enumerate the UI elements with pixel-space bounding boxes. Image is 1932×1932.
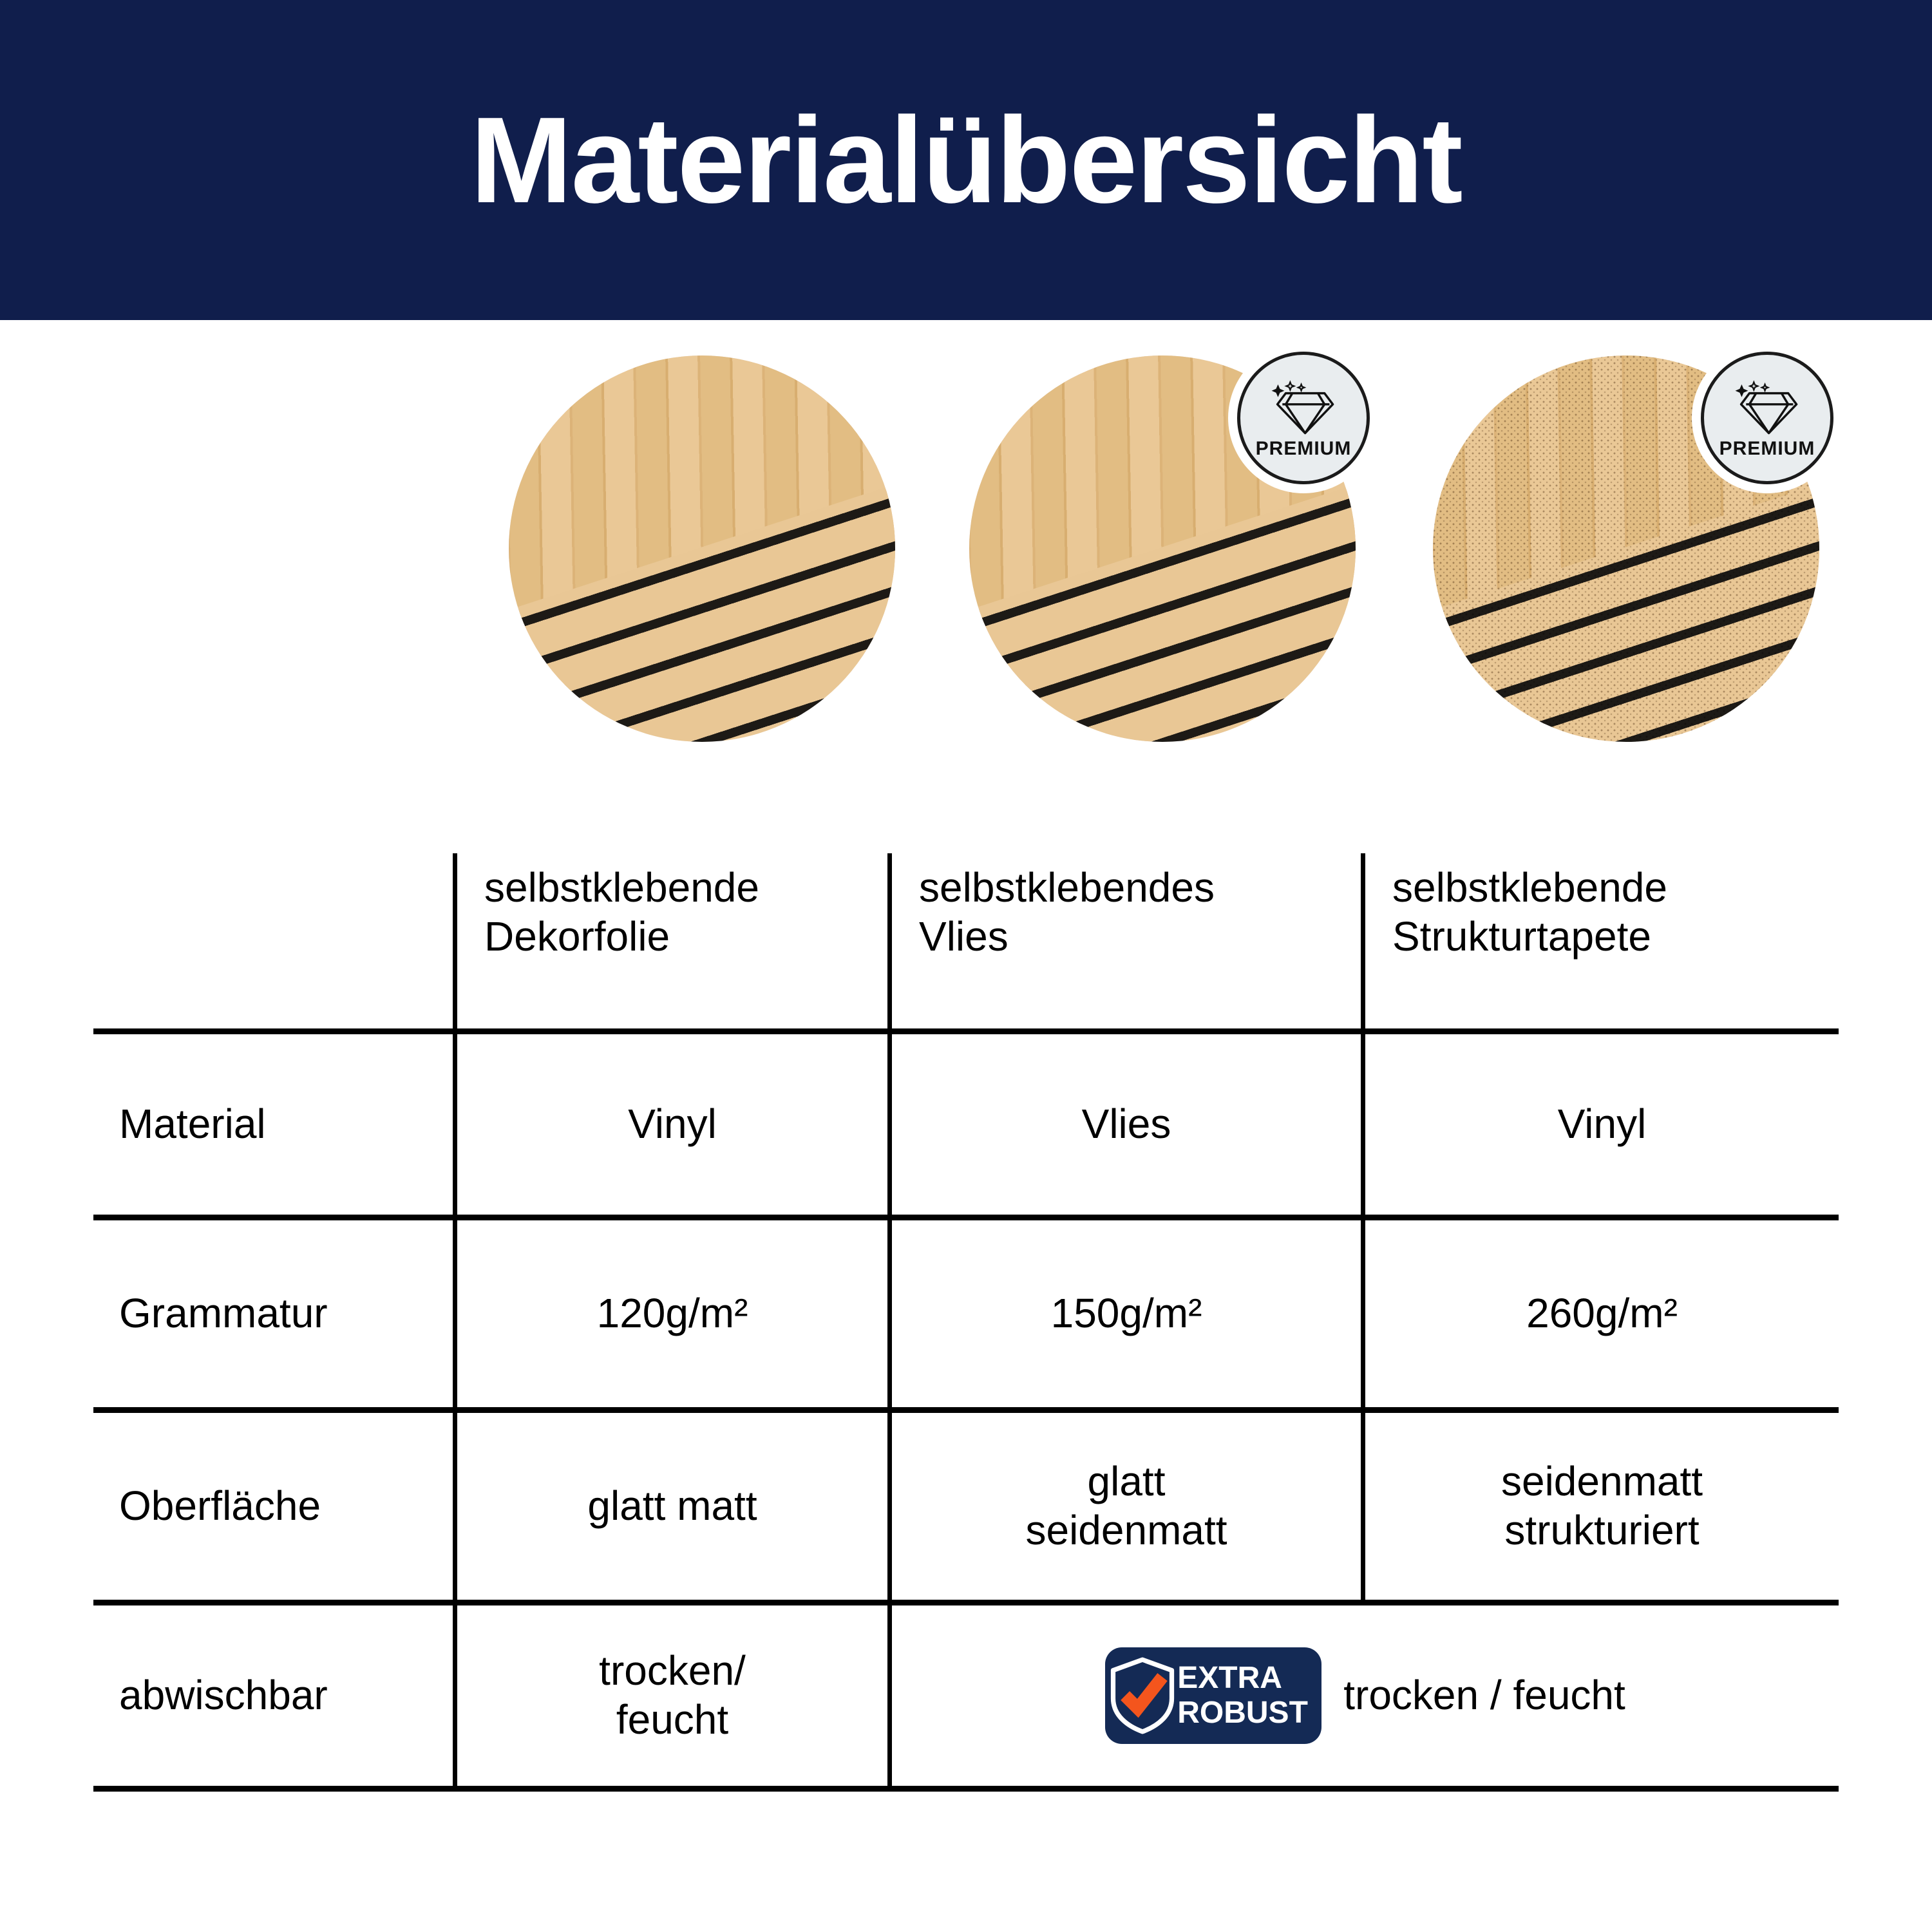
- header-cell-vlies: selbstklebendes Vlies: [887, 853, 1361, 1028]
- table-header-row: selbstklebende Dekorfolie selbstklebende…: [93, 853, 1839, 1028]
- premium-label: PREMIUM: [1719, 438, 1815, 460]
- diamond-icon: [1270, 380, 1337, 435]
- table-row-abwischbar: abwischbar trocken/ feucht EXTRA ROBUST …: [93, 1605, 1839, 1786]
- cell-abwischbar-merged: EXTRA ROBUST trocken / feucht: [887, 1605, 1839, 1786]
- table-divider: [93, 1407, 1839, 1413]
- row-label: Grammatur: [119, 1289, 328, 1338]
- row-label: Material: [119, 1100, 266, 1149]
- product-image-1: [509, 355, 895, 742]
- cell-grammatur-dekorfolie: 120g/m²: [453, 1220, 887, 1407]
- table-row-grammatur: Grammatur 120g/m² 150g/m² 260g/m²: [93, 1220, 1839, 1407]
- page-title: Materialübersicht: [470, 99, 1461, 222]
- table-divider: [93, 1215, 1839, 1220]
- product-image-row: PREMIUM: [0, 355, 1932, 761]
- slat-panel: [1433, 467, 1819, 742]
- product-image-3: PREMIUM: [1433, 355, 1819, 742]
- robust-line-2: ROBUST: [1177, 1698, 1308, 1728]
- diamond-icon: [1734, 380, 1801, 435]
- cell-grammatur-strukturtapete: 260g/m²: [1361, 1220, 1839, 1407]
- row-label-cell: abwischbar: [93, 1605, 453, 1786]
- cell-material-dekorfolie: Vinyl: [453, 1034, 887, 1215]
- table-row-material: Material Vinyl Vlies Vinyl: [93, 1034, 1839, 1215]
- cell-oberflaeche-dekorfolie: glatt matt: [453, 1413, 887, 1600]
- page-header: Materialübersicht: [0, 0, 1932, 320]
- header-line-2: Vlies: [919, 913, 1215, 961]
- header-line-2: Strukturtapete: [1392, 913, 1667, 961]
- robust-line-1: EXTRA: [1177, 1663, 1308, 1694]
- cell-material-vlies: Vlies: [887, 1034, 1361, 1215]
- premium-badge: PREMIUM: [1701, 352, 1833, 484]
- row-label: abwischbar: [119, 1671, 328, 1720]
- header-line-1: selbstklebende: [484, 864, 759, 913]
- shield-check-icon: [1109, 1657, 1176, 1734]
- header-cell-dekorfolie: selbstklebende Dekorfolie: [453, 853, 887, 1028]
- table-divider: [93, 1028, 1839, 1034]
- product-image-2: PREMIUM: [969, 355, 1356, 742]
- table-divider: [93, 1600, 1839, 1605]
- premium-label: PREMIUM: [1256, 438, 1352, 460]
- merged-cell-text: trocken / feucht: [1343, 1671, 1625, 1720]
- row-label: Oberfläche: [119, 1482, 321, 1531]
- cell-oberflaeche-strukturtapete: seidenmatt strukturiert: [1361, 1413, 1839, 1600]
- cell-grammatur-vlies: 150g/m²: [887, 1220, 1361, 1407]
- row-label-cell: Material: [93, 1034, 453, 1215]
- row-label-cell: Oberfläche: [93, 1413, 453, 1600]
- cell-abwischbar-dekorfolie: trocken/ feucht: [453, 1605, 887, 1786]
- cell-material-strukturtapete: Vinyl: [1361, 1034, 1839, 1215]
- table-divider-bottom: [93, 1786, 1839, 1792]
- header-line-1: selbstklebende: [1392, 864, 1667, 913]
- material-overview-page: Materialübersicht: [0, 0, 1932, 1932]
- material-comparison-table: selbstklebende Dekorfolie selbstklebende…: [93, 853, 1839, 1792]
- row-label-cell: Grammatur: [93, 1220, 453, 1407]
- cell-oberflaeche-vlies: glatt seidenmatt: [887, 1413, 1361, 1600]
- header-corner-cell: [93, 853, 453, 1028]
- table-row-oberflaeche: Oberfläche glatt matt glatt seidenmatt s…: [93, 1413, 1839, 1600]
- dekorfolie-photo: [509, 355, 895, 742]
- header-cell-strukturtapete: selbstklebende Strukturtapete: [1361, 853, 1839, 1028]
- header-line-1: selbstklebendes: [919, 864, 1215, 913]
- premium-badge: PREMIUM: [1237, 352, 1370, 484]
- header-line-2: Dekorfolie: [484, 913, 759, 961]
- extra-robust-badge: EXTRA ROBUST: [1105, 1647, 1321, 1744]
